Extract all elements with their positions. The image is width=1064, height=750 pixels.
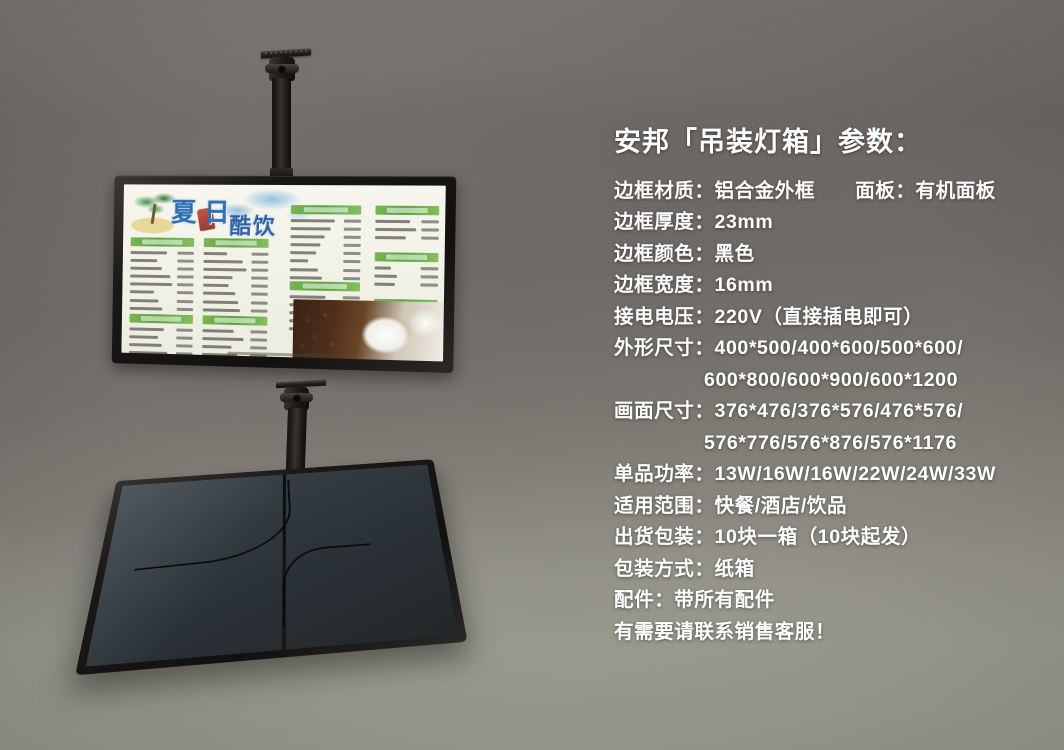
menu-category-header [375, 206, 439, 216]
menu-item-row [129, 341, 192, 349]
menu-item-row [291, 225, 361, 232]
menu-item-row [290, 233, 360, 240]
coffee-photo [293, 299, 444, 361]
spec-line-graphic-size: 画面尺寸：376*476/376*576/476*576/ [614, 396, 1034, 428]
menu-category-block [130, 237, 195, 314]
menu-item-row [203, 282, 268, 289]
menu-item-row [375, 226, 439, 233]
menu-category-block [375, 206, 439, 244]
lightbox-rear-panel [86, 465, 458, 667]
spec-title: 安邦「吊装灯箱」参数： [614, 126, 1034, 160]
menu-item-row [203, 266, 268, 273]
spec-line-voltage: 接电电压：220V（直接插电即可） [614, 302, 1034, 334]
menu-item-row [129, 350, 192, 358]
menu-category-block [290, 205, 362, 284]
menu-item-row [374, 281, 438, 288]
menu-category-header [291, 205, 361, 215]
spec-line-frame-width: 边框宽度：16mm [614, 270, 1034, 302]
menu-item-row [202, 360, 267, 362]
spec-line-frame-color: 边框颜色：黑色 [614, 239, 1034, 271]
menu-item-row [203, 307, 268, 314]
spec-line-frame-thickness: 边框厚度：23mm [614, 207, 1034, 239]
menu-item-row [203, 291, 268, 298]
menu-category-header [203, 315, 268, 325]
menu-item-row [375, 218, 439, 225]
menu-item-row [130, 257, 193, 264]
menu-category-header [129, 314, 193, 324]
menu-category-block [374, 252, 438, 290]
menu-category-header [375, 252, 439, 262]
spec-line-accessories: 配件：带所有配件 [614, 585, 1034, 617]
menu-item-row [130, 305, 193, 312]
menu-item-row [130, 297, 193, 304]
menu-item-row [130, 273, 193, 280]
menu-item-row [204, 258, 269, 265]
spec-panel: 安邦「吊装灯箱」参数： 边框材质：铝合金外框 面板：有机面板 边框厚度：23mm… [614, 126, 1034, 648]
menu-item-row [130, 265, 193, 272]
menu-item-row [131, 249, 195, 256]
menu-category-header [290, 281, 360, 291]
spec-line-shipping-pack: 出货包装：10块一箱（10块起发） [614, 522, 1034, 554]
menu-item-row [290, 266, 360, 273]
menu-item-row [129, 333, 192, 340]
spec-line-contact-sales: 有需要请联系销售客服！ [614, 617, 1034, 649]
product-photo-page: 夏 日 酷 饮 [0, 0, 1064, 750]
menu-category-header [131, 237, 195, 247]
menu-item-row [290, 242, 360, 249]
menu-headline-char-2: 日 [204, 193, 230, 230]
menu-category-block [203, 238, 269, 316]
menu-item-row [202, 335, 267, 343]
menu-item-row [203, 299, 268, 306]
spec-line-outer-size-cont: 600*800/600*900/600*1200 [614, 365, 1034, 397]
spec-line-frame-material: 边框材质：铝合金外框 面板：有机面板 [614, 176, 1034, 208]
spec-line-graphic-size-cont: 576*776/576*876/576*1176 [614, 428, 1034, 460]
menu-item-row [130, 281, 193, 288]
menu-item-row [291, 217, 361, 224]
spec-line-power: 单品功率：13W/16W/16W/22W/24W/33W [614, 459, 1034, 491]
lower-lightbox [75, 459, 467, 675]
spec-line-applications: 适用范围：快餐/酒店/饮品 [614, 491, 1034, 523]
menu-headline-char-3: 酷 [229, 209, 251, 241]
menu-panel: 夏 日 酷 饮 [121, 184, 445, 361]
lightbox-frame-lower [75, 459, 467, 675]
menu-headline-char-4: 饮 [253, 209, 275, 241]
menu-item-row [290, 250, 360, 257]
lightbox-frame-upper: 夏 日 酷 饮 [112, 176, 457, 373]
menu-item-row [129, 325, 192, 332]
menu-item-row [129, 358, 192, 362]
menu-item-row [202, 327, 267, 335]
menu-item-row [375, 264, 439, 271]
tilt-knuckle-lower [284, 387, 309, 410]
menu-headline-char-1: 夏 [171, 192, 197, 229]
menu-item-row [374, 273, 438, 280]
spec-line-packing-method: 包装方式：纸箱 [614, 554, 1034, 586]
menu-category-block [129, 314, 193, 362]
menu-item-row [202, 343, 267, 351]
menu-item-row [130, 289, 193, 296]
menu-item-row [375, 234, 439, 241]
spec-line-outer-size: 外形尺寸：400*500/400*600/500*600/ [614, 333, 1034, 365]
menu-item-row [203, 274, 268, 281]
menu-item-row [204, 250, 269, 257]
menu-item-row [290, 258, 360, 265]
drop-pole-upper [272, 78, 291, 182]
menu-category-header [204, 238, 269, 248]
upper-lightbox: 夏 日 酷 饮 [112, 176, 457, 373]
